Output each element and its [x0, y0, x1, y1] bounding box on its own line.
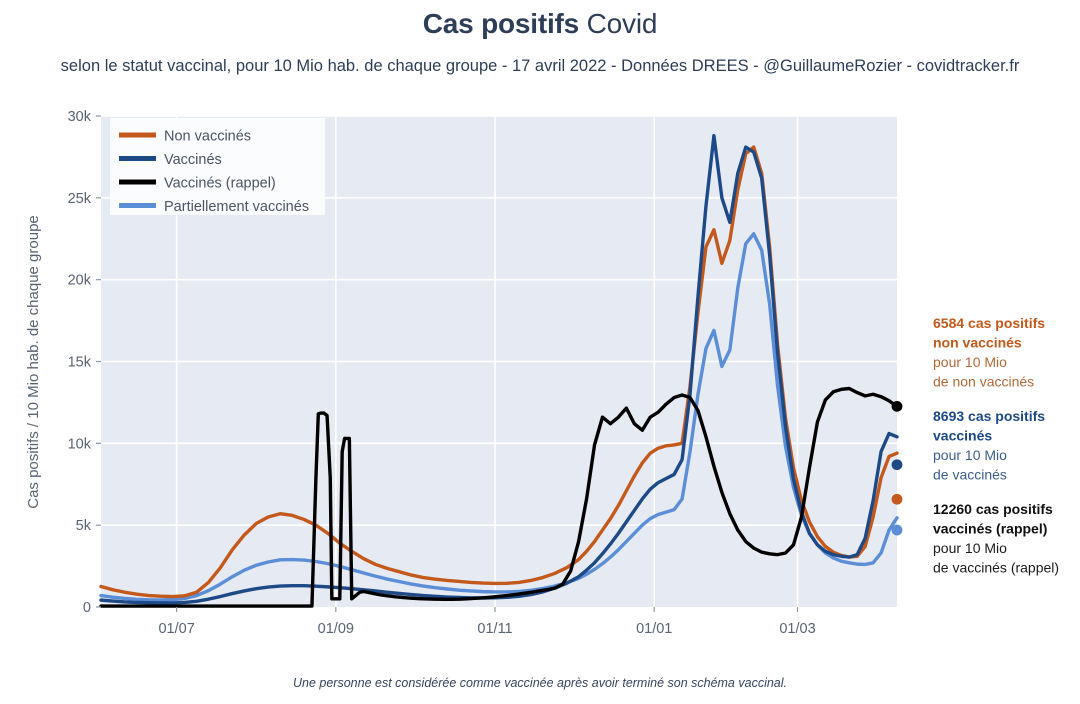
chart-container: 05k10k15k20k25k30k 01/0701/0901/1101/010… [0, 96, 1080, 656]
y-tick-label: 25k [68, 191, 92, 207]
series-endpoint-marker [892, 401, 903, 412]
legend-label: Partiellement vaccinés [164, 199, 309, 215]
x-axis-ticks: 01/0701/0901/1101/0101/03 [158, 607, 815, 637]
page-subtitle: selon le statut vaccinal, pour 10 Mio ha… [0, 57, 1080, 76]
y-tick-label: 20k [68, 273, 92, 289]
series-endpoint-marker [892, 494, 903, 505]
annotation-line: vaccinés (rappel) [933, 521, 1047, 537]
legend-label: Vaccinés (rappel) [164, 176, 276, 192]
annotation-line: 12260 cas positifs [933, 501, 1053, 517]
legend-label: Non vaccinés [164, 129, 251, 145]
annotation-line: pour 10 Mio [933, 354, 1007, 370]
annotation-line: pour 10 Mio [933, 447, 1007, 463]
annotation-line: vaccinés [933, 428, 992, 444]
annotation-line: de non vaccinés [933, 374, 1034, 390]
x-tick-label: 01/07 [158, 621, 194, 637]
y-axis-label: Cas positifs / 10 Mio hab. de chaque gro… [25, 215, 42, 509]
annotation-line: de vaccinés (rappel) [933, 560, 1059, 576]
legend-label: Vaccinés [164, 152, 222, 168]
y-axis-ticks: 05k10k15k20k25k30k [68, 109, 101, 616]
line-chart: 05k10k15k20k25k30k 01/0701/0901/1101/010… [0, 96, 1080, 656]
chart-legend: Non vaccinésVaccinésVaccinés (rappel)Par… [110, 118, 325, 215]
x-tick-label: 01/01 [636, 621, 672, 637]
x-tick-label: 01/11 [477, 621, 512, 637]
y-tick-label: 0 [83, 600, 91, 616]
title-light: Covid [587, 8, 658, 39]
y-tick-label: 10k [68, 436, 92, 452]
page-title: Cas positifs Covid [0, 8, 1080, 40]
y-tick-label: 5k [76, 518, 92, 534]
annotation-line: 6584 cas positifs [933, 315, 1045, 331]
annotation-line: non vaccinés [933, 335, 1022, 351]
title-strong: Cas positifs [423, 8, 579, 39]
annotation-line: pour 10 Mio [933, 540, 1007, 556]
x-tick-label: 01/09 [318, 621, 354, 637]
series-endpoint-marker [892, 459, 903, 470]
series-endpoint-marker [892, 525, 903, 536]
footnote: Une personne est considérée comme vaccin… [0, 676, 1080, 690]
annotations-panel: 6584 cas positifsnon vaccinéspour 10 Mio… [933, 315, 1059, 576]
x-tick-label: 01/03 [779, 621, 815, 637]
annotation-line: de vaccinés [933, 467, 1007, 483]
y-tick-label: 30k [68, 109, 92, 125]
annotation-line: 8693 cas positifs [933, 408, 1045, 424]
y-tick-label: 15k [68, 355, 92, 371]
